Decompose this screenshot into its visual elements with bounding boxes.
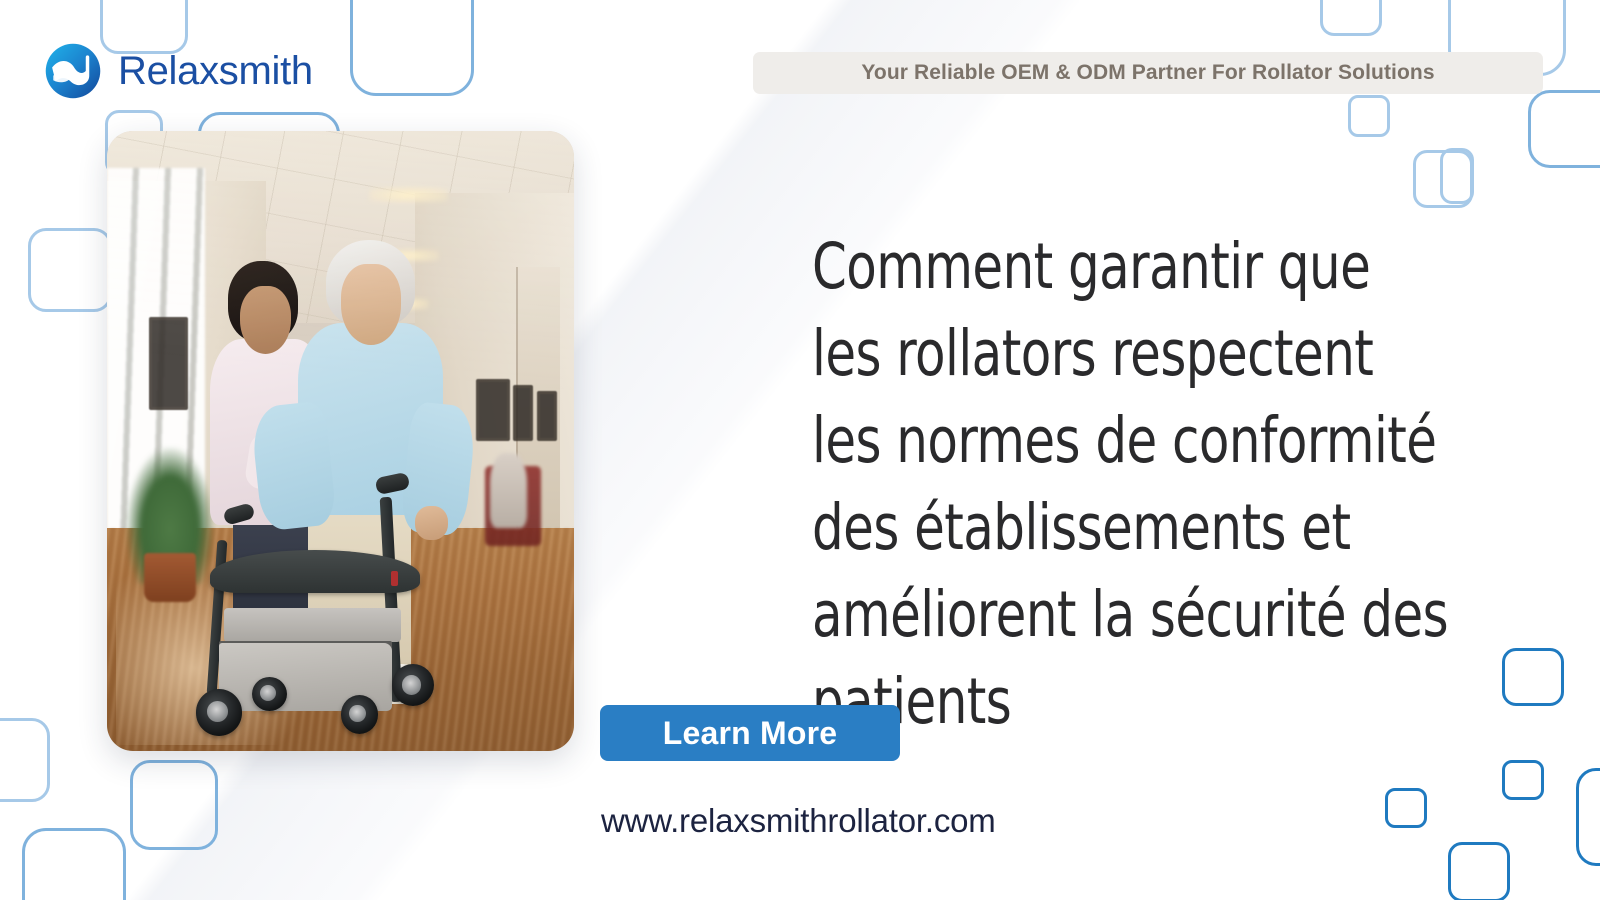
learn-more-button[interactable]: Learn More: [600, 705, 900, 761]
page-title: Comment garantir que les rollators respe…: [812, 224, 1454, 746]
deco-square-right-3: [1502, 760, 1544, 800]
poster-canvas: Relaxsmith Your Reliable OEM & ODM Partn…: [0, 0, 1600, 900]
brand-name: Relaxsmith: [118, 51, 313, 91]
tagline-text: Your Reliable OEM & ODM Partner For Roll…: [861, 61, 1434, 85]
deco-square-right-2: [1385, 788, 1427, 828]
tagline-banner: Your Reliable OEM & ODM Partner For Roll…: [753, 52, 1543, 94]
deco-square-left-3: [130, 760, 218, 850]
deco-square-right-1: [1502, 648, 1564, 706]
learn-more-label: Learn More: [663, 717, 837, 749]
relaxsmith-wave-logo-icon: [44, 42, 102, 100]
deco-square-left-2: [0, 718, 50, 802]
deco-square-left-1: [28, 228, 112, 312]
deco-square-top-10: [1413, 150, 1473, 208]
brand-logo[interactable]: Relaxsmith: [44, 42, 313, 100]
deco-square-top-5: [1320, 0, 1382, 36]
hero-photo: [107, 131, 574, 751]
website-url[interactable]: www.relaxsmithrollator.com: [601, 802, 996, 840]
deco-square-left-4: [22, 828, 126, 900]
deco-square-right-5: [1576, 768, 1600, 866]
deco-square-top-2: [350, 0, 474, 96]
deco-square-top-9: [1528, 90, 1600, 168]
deco-square-top-7: [1348, 95, 1390, 137]
deco-square-right-4: [1448, 842, 1510, 900]
